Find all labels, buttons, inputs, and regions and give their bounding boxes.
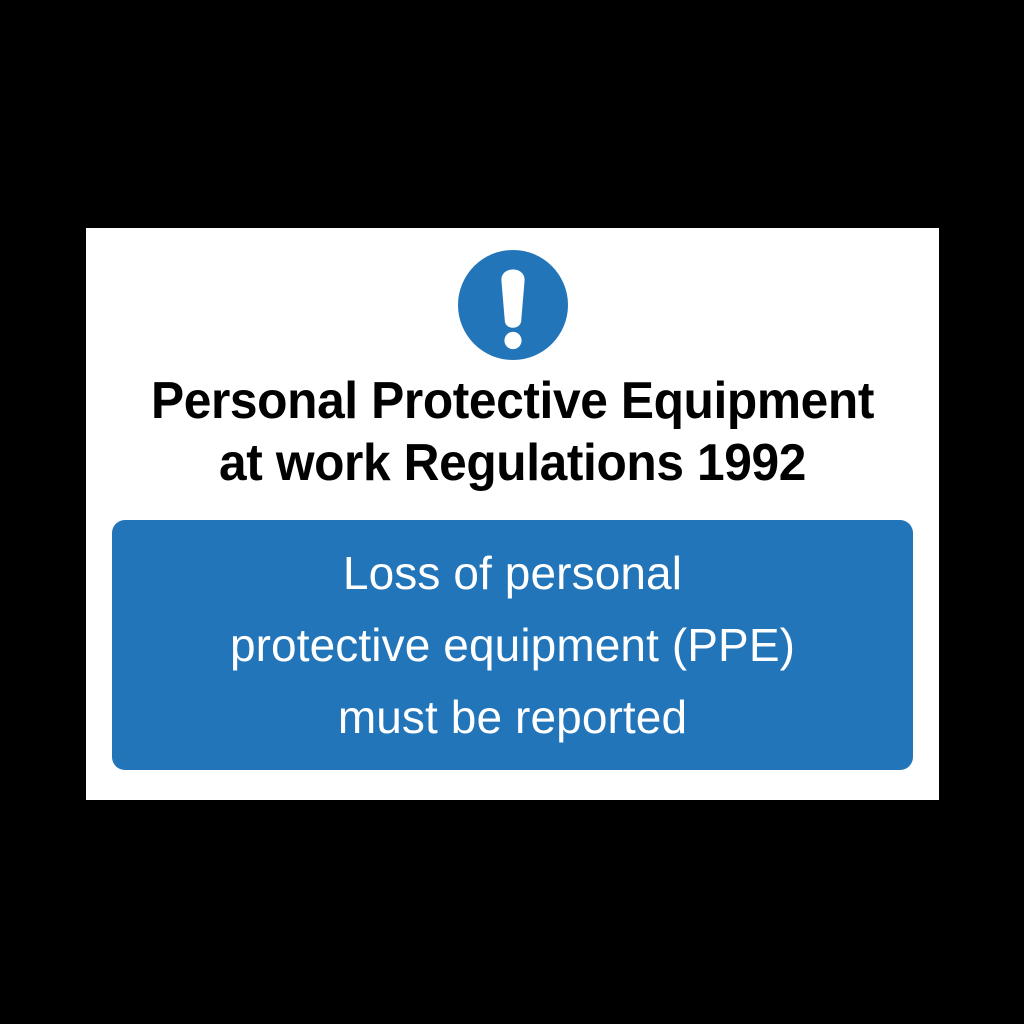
message-line-1: Loss of personal <box>343 537 682 609</box>
headline-line-2: at work Regulations 1992 <box>105 432 920 494</box>
headline-block: Personal Protective Equipment at work Re… <box>86 370 939 494</box>
message-panel: Loss of personal protective equipment (P… <box>112 520 913 770</box>
message-line-2: protective equipment (PPE) <box>230 609 795 681</box>
safety-sign-panel: Personal Protective Equipment at work Re… <box>86 228 939 800</box>
mandatory-exclamation-icon <box>458 250 568 360</box>
message-line-3: must be reported <box>338 681 687 753</box>
sign-canvas: Personal Protective Equipment at work Re… <box>0 0 1024 1024</box>
headline-line-1: Personal Protective Equipment <box>105 370 920 432</box>
